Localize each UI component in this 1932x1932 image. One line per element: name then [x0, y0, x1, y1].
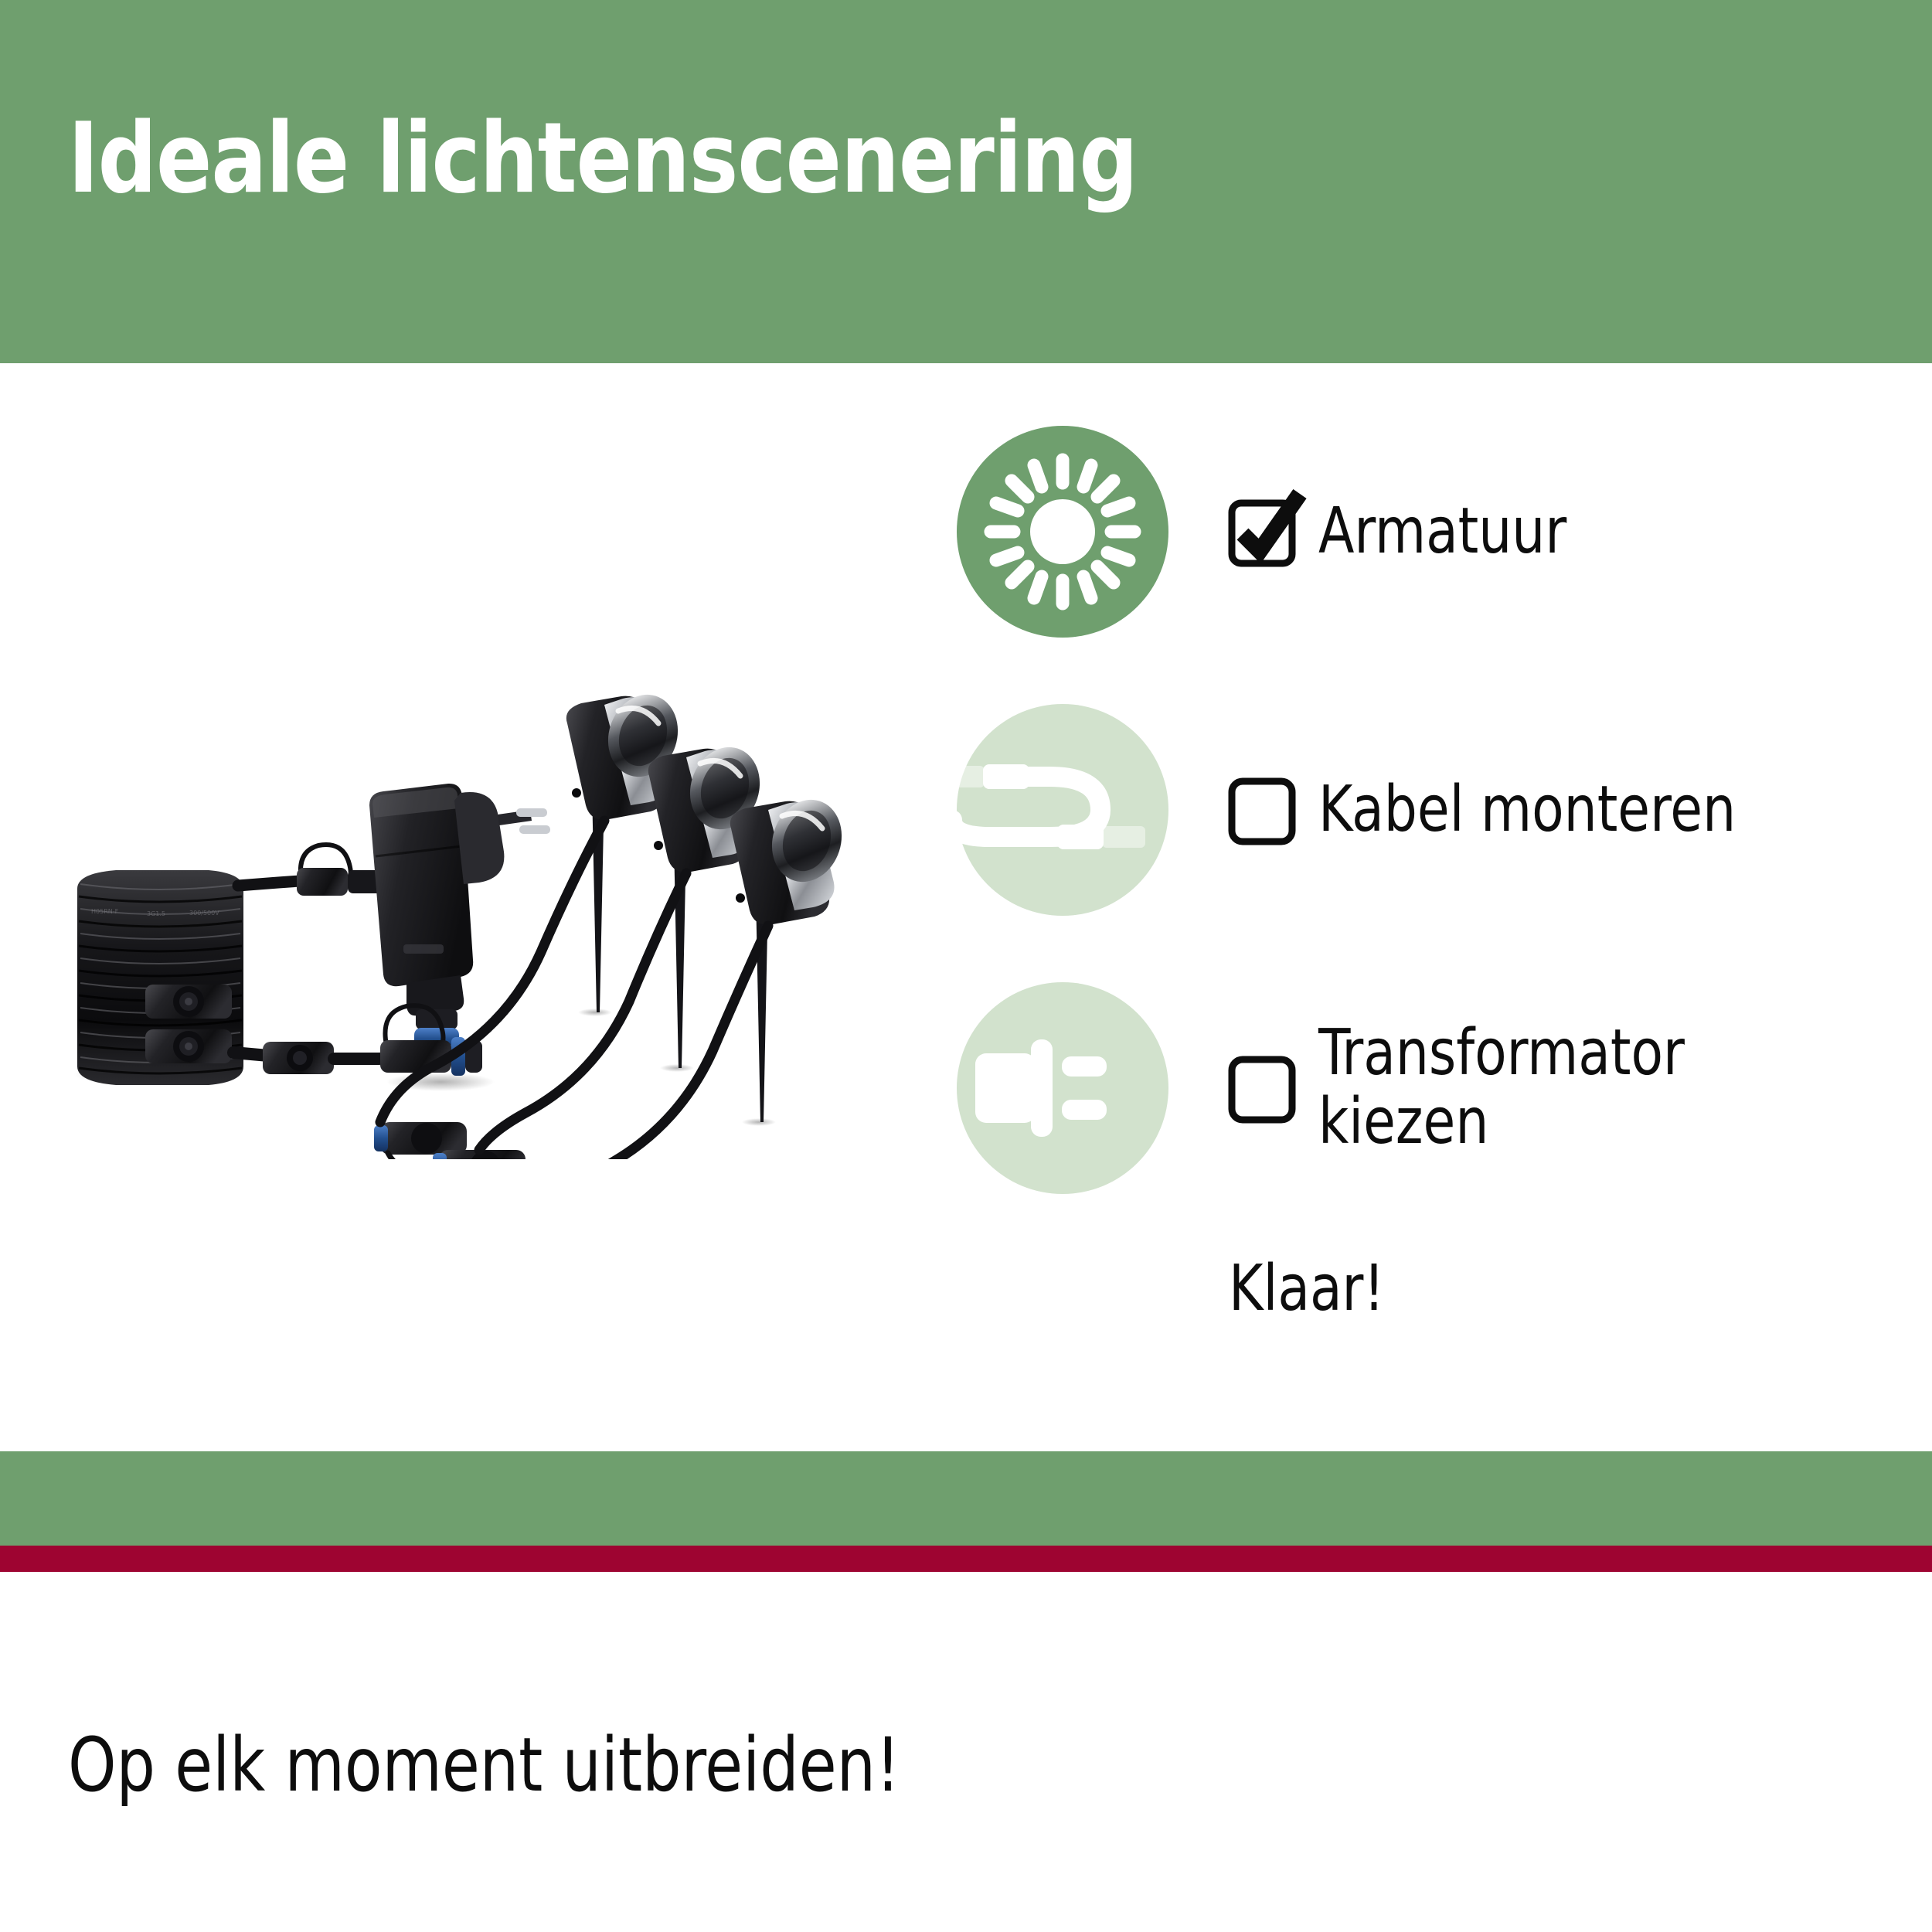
svg-text:3G1.5: 3G1.5 — [147, 910, 165, 917]
footer-green-bar — [0, 1451, 1932, 1546]
checkbox-armatuur[interactable] — [1230, 500, 1286, 563]
cable-icon-badge — [957, 704, 1168, 916]
checklist-row-transformator-kiezen[interactable]: Transformator kiezen — [957, 974, 1915, 1202]
header-band: Ideale lichtenscenering — [0, 0, 1932, 363]
sun-icon — [991, 460, 1134, 604]
checklist-label-group-armatuur: Armatuur — [1230, 498, 1588, 566]
checklist-row-kabel-monteren[interactable]: Kabel monteren — [957, 696, 1915, 924]
cable-coil-graphic: H05RN-F 3G1.5 300/500V — [73, 870, 243, 1087]
cable-icon — [951, 764, 1145, 849]
sun-icon-badge — [957, 426, 1168, 638]
checkbox-transformator-kiezen[interactable] — [1230, 1056, 1286, 1120]
page-title: Ideale lichtenscenering — [68, 105, 1138, 213]
checklist-label-transformator-kiezen: Transformator kiezen — [1318, 1019, 1685, 1156]
footer-red-bar — [0, 1546, 1932, 1572]
checklist-label-armatuur: Armatuur — [1318, 498, 1566, 566]
checklist-row-armatuur[interactable]: Armatuur — [957, 417, 1915, 646]
plug-icon-badge — [957, 982, 1168, 1194]
product-photo: H05RN-F 3G1.5 300/500V — [31, 649, 943, 1159]
checkbox-kabel-monteren[interactable] — [1230, 778, 1286, 842]
svg-text:H05RN-F: H05RN-F — [91, 908, 119, 915]
coil-connector-upper — [145, 985, 232, 1019]
checklist-done-label: Klaar! — [1229, 1252, 1860, 1325]
checklist-label-kabel-monteren: Kabel monteren — [1318, 776, 1736, 845]
plug-icon — [975, 1039, 1107, 1137]
svg-text:300/500V: 300/500V — [189, 910, 219, 917]
footer-caption: Op elk moment uitbreiden! — [68, 1722, 900, 1808]
install-checklist: Armatuur — [957, 417, 1915, 1325]
promo-page: Ideale lichtenscenering — [0, 0, 1932, 1932]
checklist-label-group-kabel-monteren: Kabel monteren — [1230, 776, 1772, 845]
coil-connector-lower — [145, 1029, 232, 1063]
checklist-label-group-transformator-kiezen: Transformator kiezen — [1230, 1019, 1716, 1156]
